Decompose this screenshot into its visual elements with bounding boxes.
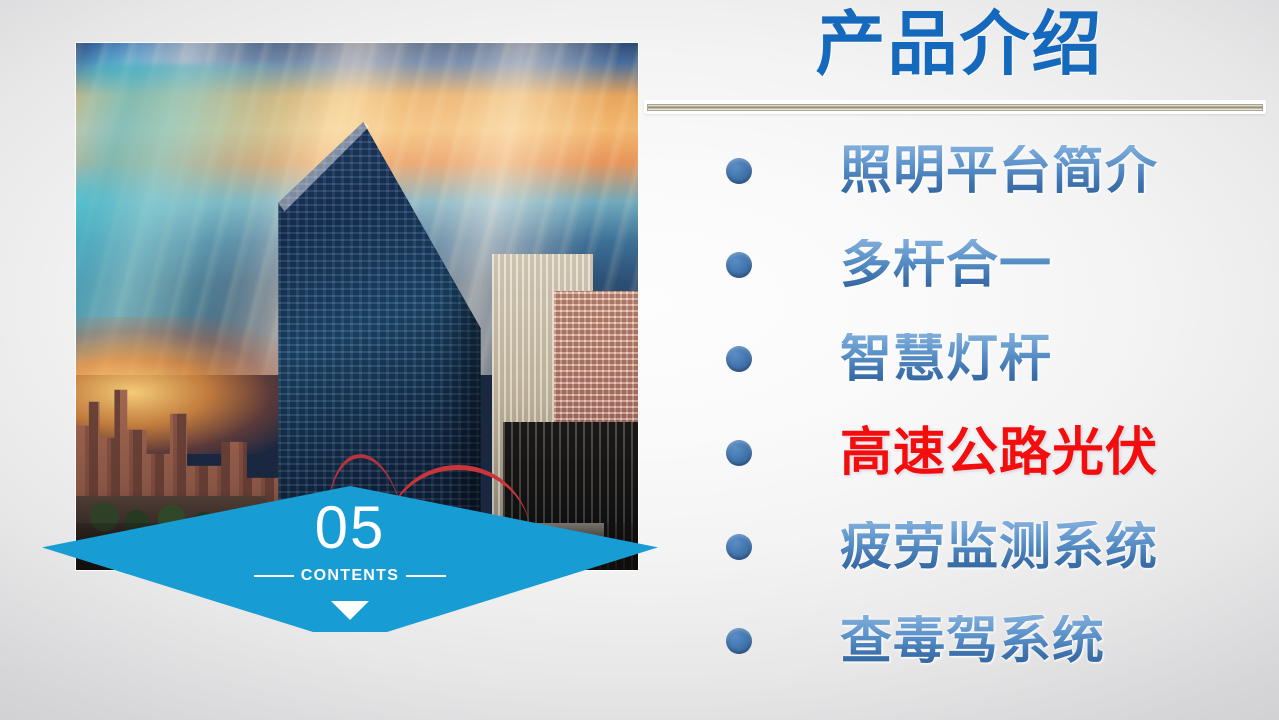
list-item[interactable]: 查毒驾系统	[640, 594, 1279, 688]
list-item-label: 多杆合一	[840, 239, 1052, 291]
content-panel: 产品介绍 照明平台简介 多杆合一 智慧灯杆 高速公路光伏	[640, 0, 1279, 720]
contents-label-row: CONTENTS	[42, 567, 658, 585]
contents-number: 05	[42, 498, 658, 558]
title-divider	[644, 100, 1266, 114]
bullet-icon	[726, 158, 752, 184]
title-divider-bar	[647, 104, 1263, 111]
list-item[interactable]: 照明平台简介	[640, 124, 1279, 218]
list-item-label: 智慧灯杆	[840, 333, 1052, 385]
list-item-label: 高速公路光伏	[840, 427, 1158, 479]
list-item-label: 照明平台简介	[840, 145, 1158, 197]
presentation-slide: 05 CONTENTS 产品介绍 照明平台简介 多杆合一 智慧灯杆	[0, 0, 1279, 720]
page-title: 产品介绍	[640, 4, 1279, 85]
photo-sunset-glow	[76, 317, 301, 454]
caret-down-icon	[42, 601, 658, 620]
contents-label: CONTENTS	[301, 567, 399, 585]
bullet-icon	[726, 534, 752, 560]
bullet-icon	[726, 628, 752, 654]
list-item[interactable]: 智慧灯杆	[640, 312, 1279, 406]
list-item-label: 疲劳监测系统	[840, 521, 1158, 573]
list-item[interactable]: 多杆合一	[640, 218, 1279, 312]
bullet-icon	[726, 346, 752, 372]
contents-rule-right	[406, 575, 446, 577]
list-item-highlighted[interactable]: 高速公路光伏	[640, 406, 1279, 500]
bullet-icon	[726, 440, 752, 466]
list-item-label: 查毒驾系统	[840, 615, 1105, 667]
contents-rule-left	[254, 575, 294, 577]
list-item[interactable]: 疲劳监测系统	[640, 500, 1279, 594]
bullet-icon	[726, 252, 752, 278]
table-of-contents: 照明平台简介 多杆合一 智慧灯杆 高速公路光伏 疲劳监测系统 查毒驾系统	[640, 124, 1279, 688]
